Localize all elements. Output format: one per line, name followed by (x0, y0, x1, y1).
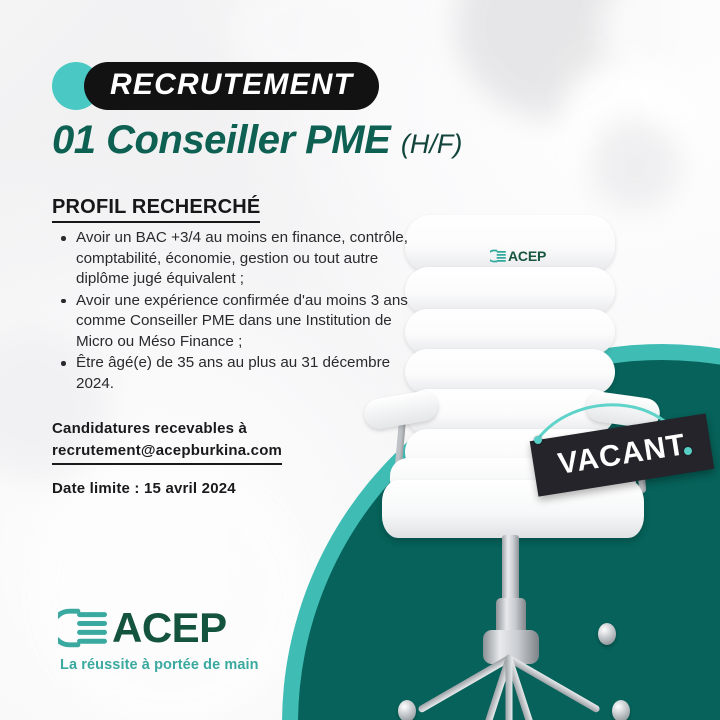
page-title: 01 Conseiller PME (H/F) (52, 118, 462, 163)
chair-caster (598, 623, 616, 645)
list-item: Avoir un BAC +3/4 au moins en finance, c… (54, 228, 426, 290)
chair-acep-logo: ACEP (490, 248, 546, 264)
acep-bars-icon (490, 249, 507, 263)
profile-requirements-list: Avoir un BAC +3/4 au moins en finance, c… (54, 228, 426, 395)
acep-logo: ACEP La réussite à portée de main (58, 606, 259, 673)
list-item: Être âgé(e) de 35 ans au plus au 31 déce… (54, 353, 426, 394)
list-item: Avoir une expérience confirmée d'au moin… (54, 291, 426, 353)
vacant-sign-label: VACANT (556, 430, 688, 480)
chair-caster (398, 700, 416, 720)
acep-bars-icon (58, 606, 110, 650)
background-blob (455, 0, 665, 120)
sign-knob (534, 436, 542, 444)
sign-knob (684, 447, 692, 455)
acep-wordmark: ACEP (112, 607, 227, 649)
chair-caster (612, 700, 630, 720)
application-contact: Candidatures recevables à recrutement@ac… (52, 418, 282, 465)
recrutement-badge-label: RECRUTEMENT (84, 62, 379, 110)
application-deadline: Date limite : 15 avril 2024 (52, 480, 236, 497)
contact-intro-text: Candidatures recevables à (52, 418, 282, 440)
recruitment-poster: ACEP VACANT RECRUTEMENT (0, 0, 720, 720)
background-blob (560, 60, 680, 180)
acep-tagline: La réussite à portée de main (60, 657, 259, 673)
job-title-text: 01 Conseiller PME (52, 118, 390, 162)
background-blob (600, 0, 720, 100)
background-blob (590, 120, 680, 210)
application-email-link[interactable]: recrutement@acepburkina.com (52, 440, 282, 465)
background-blob (40, 470, 300, 720)
vacant-sign: VACANT (515, 395, 720, 505)
profile-heading: PROFIL RECHERCHÉ (52, 196, 260, 223)
chair-acep-label: ACEP (508, 248, 546, 264)
chair-backrest-segment (405, 215, 615, 273)
chair-base-spoke (506, 655, 513, 720)
job-title-gender-suffix: (H/F) (401, 129, 462, 159)
chair-backrest-segment (405, 267, 615, 315)
header-badge: RECRUTEMENT (52, 62, 379, 110)
